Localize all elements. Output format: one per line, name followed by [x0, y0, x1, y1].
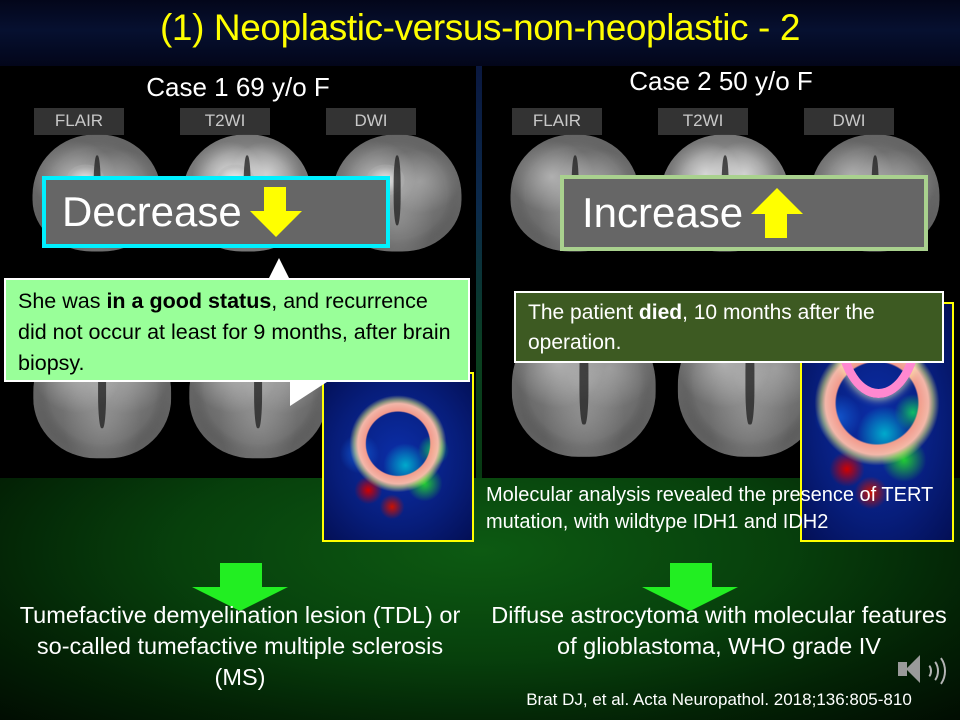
speaker-icon[interactable] — [898, 650, 946, 690]
banner-increase-label: Increase — [582, 192, 743, 234]
sequence-label-t2wi: T2WI — [180, 108, 270, 135]
callout-case1-before: She was — [18, 289, 106, 313]
sequence-label-dwi: DWI — [326, 108, 416, 135]
banner-decrease: Decrease — [42, 176, 390, 248]
case-panel-1: Case 1 69 y/o F FLAIR T2WI DWI — [0, 66, 476, 478]
sequence-label-flair: FLAIR — [512, 108, 602, 135]
perfusion-colormap — [324, 374, 472, 540]
callout-case2-before: The patient — [528, 301, 639, 324]
case-1-heading: Case 1 69 y/o F — [0, 72, 476, 103]
callout-tail-down — [290, 380, 330, 406]
arrow-up-icon — [749, 186, 803, 240]
case-panel-2: Case 2 50 y/o F FLAIR T2WI DWI — [482, 66, 960, 478]
molecular-analysis-note: Molecular analysis revealed the presence… — [486, 482, 946, 536]
callout-case-2: The patient died, 10 months after the op… — [514, 291, 944, 363]
conclusion-case-1: Tumefactive demyelination lesion (TDL) o… — [10, 600, 470, 693]
citation-reference: Brat DJ, et al. Acta Neuropathol. 2018;1… — [484, 690, 954, 710]
mri-case1-perfusion-map — [322, 372, 474, 542]
presentation-slide: (1) Neoplastic-versus-non-neoplastic - 2… — [0, 0, 960, 720]
title-band: (1) Neoplastic-versus-non-neoplastic - 2 — [0, 0, 960, 66]
callout-tail-up — [268, 258, 290, 280]
sequence-label-flair: FLAIR — [34, 108, 124, 135]
sequence-label-t2wi: T2WI — [658, 108, 748, 135]
banner-decrease-label: Decrease — [62, 191, 242, 233]
case-2-heading: Case 2 50 y/o F — [482, 66, 960, 97]
callout-case1-bold: in a good status — [106, 289, 271, 313]
callout-case-1: She was in a good status, and recurrence… — [4, 278, 470, 382]
banner-increase: Increase — [560, 175, 928, 251]
conclusion-case-2: Diffuse astrocytoma with molecular featu… — [484, 600, 954, 662]
panel-divider — [476, 66, 482, 478]
callout-case2-bold: died — [639, 301, 682, 324]
page-title: (1) Neoplastic-versus-non-neoplastic - 2 — [0, 7, 960, 49]
sequence-label-dwi: DWI — [804, 108, 894, 135]
arrow-down-icon — [248, 185, 302, 239]
